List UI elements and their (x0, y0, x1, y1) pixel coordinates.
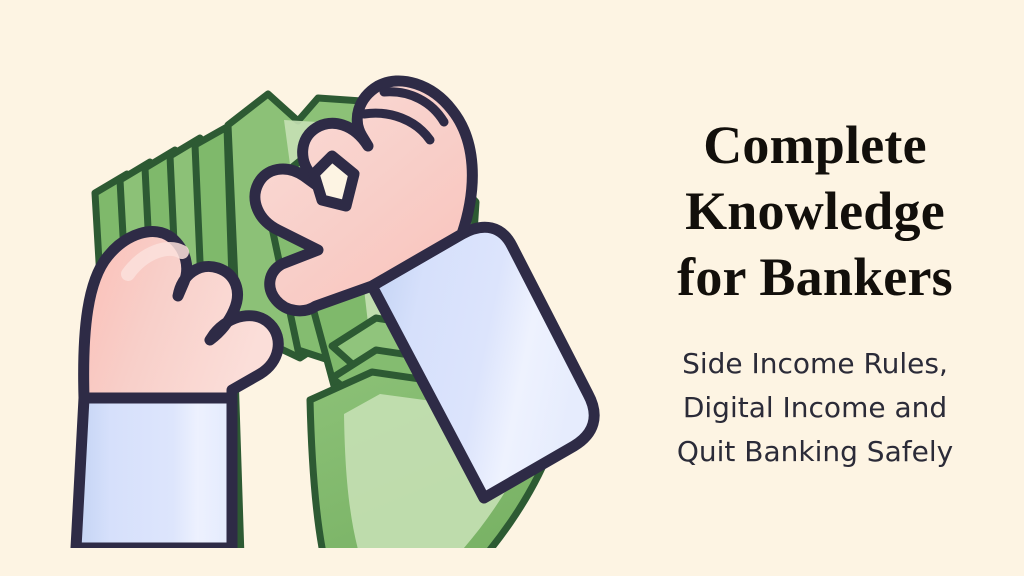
subheadline-line-3: Quit Banking Safely (620, 430, 1010, 474)
page-title: Complete Knowledge for Bankers (620, 112, 1024, 310)
headline-line-2: Knowledge (620, 178, 1010, 244)
money-hands-illustration (32, 28, 602, 548)
pinch-gap (314, 156, 354, 206)
subheadline-line-2: Digital Income and (620, 386, 1010, 430)
page-subtitle: Side Income Rules, Digital Income and Qu… (620, 310, 1024, 474)
headline-line-1: Complete (620, 112, 1010, 178)
text-pane: Complete Knowledge for Bankers Side Inco… (620, 0, 1024, 576)
promo-banner: Complete Knowledge for Bankers Side Inco… (0, 0, 1024, 576)
headline-line-3: for Bankers (620, 244, 1010, 310)
illustration-pane (0, 0, 620, 576)
subheadline-line-1: Side Income Rules, (620, 342, 1010, 386)
